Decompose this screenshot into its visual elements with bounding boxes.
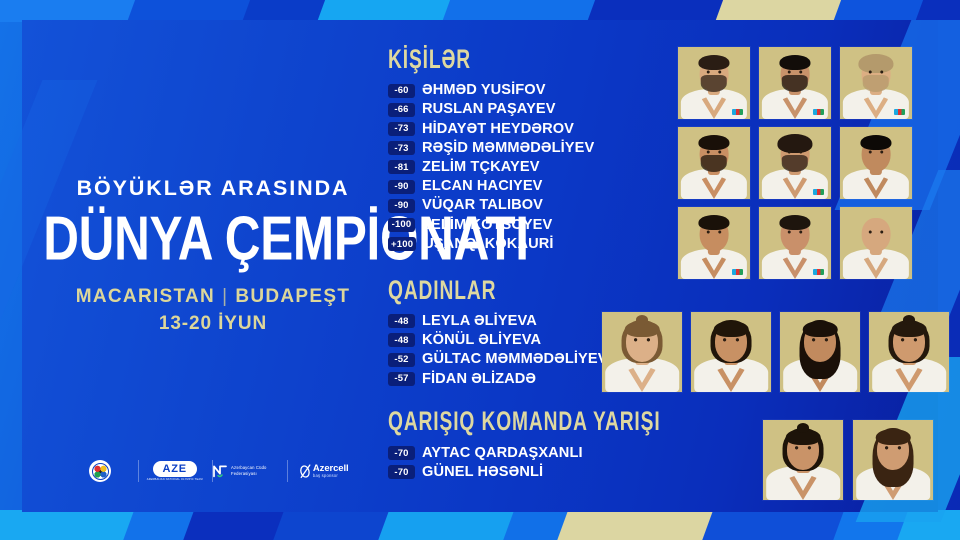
athlete-name: HİDAYƏT HEYDƏROV [422, 122, 574, 137]
weight-badge: -81 [388, 160, 415, 174]
athlete-row: -70GÜNEL HƏSƏNLİ [388, 463, 688, 482]
stripe-tan [554, 510, 721, 540]
athlete-portrait [691, 312, 771, 392]
weight-badge: -70 [388, 446, 415, 460]
federation-logo-label: Azərbaycan Cüdo Federasiyası [231, 465, 287, 476]
weight-badge: -90 [388, 199, 415, 213]
athlete-name: RUSLAN PAŞAYEV [422, 102, 556, 117]
athlete-name: ELCAN HACIYEV [422, 179, 543, 194]
photo-grid-men [678, 47, 912, 279]
section-heading-men: KİŞİLƏR [388, 47, 628, 74]
azercell-text: Azercell baş sponsor [313, 464, 349, 479]
logo-aze-team: AZE AZERBAIJAN NATIONAL OLYMPIC TEAM [138, 454, 213, 488]
photo-grid-mixed [763, 420, 933, 500]
athlete-portrait [780, 312, 860, 392]
athlete-name: RƏŞİD MƏMMƏDƏLİYEV [422, 141, 594, 156]
athlete-name: VÜQAR TALIBOV [422, 198, 543, 213]
stripe [0, 0, 147, 22]
weight-badge: -70 [388, 465, 415, 479]
weight-badge: -73 [388, 122, 415, 136]
athlete-portrait [853, 420, 933, 500]
olympic-seal-icon [89, 460, 111, 482]
top-stripe-band [0, 0, 960, 22]
stripe [0, 510, 143, 540]
eyes [678, 207, 750, 279]
event-title-block: BÖYÜKLƏR ARASINDA DÜNYA ÇEMPİONATI MACAR… [38, 178, 388, 335]
flag-patch [813, 189, 824, 195]
section-mixed-team: QARIŞIQ KOMANDA YARIŞI -70AYTAC QARDAŞXA… [388, 410, 688, 481]
azercell-logo-icon: Azercell baş sponsor [299, 464, 349, 479]
eyes [759, 207, 831, 279]
venue-separator: | [222, 286, 228, 307]
athlete-name: ƏHMƏD YUSİFOV [422, 83, 546, 98]
athlete-row: -66RUSLAN PAŞAYEV [388, 100, 688, 119]
weight-badge: -60 [388, 84, 415, 98]
athlete-portrait [759, 47, 831, 119]
athlete-portrait [759, 207, 831, 279]
azercell-name: Azercell [313, 464, 349, 474]
aze-logo-icon: AZE AZERBAIJAN NATIONAL OLYMPIC TEAM [147, 461, 203, 481]
athlete-portrait [678, 207, 750, 279]
flag-patch [732, 269, 743, 275]
title-kicker: BÖYÜKLƏR ARASINDA [38, 178, 388, 200]
page-title: DÜNYA ÇEMPİONATI [43, 206, 383, 271]
flag-patch [813, 269, 824, 275]
athlete-portrait [840, 207, 912, 279]
athlete-list-men: -60ƏHMƏD YUSİFOV -66RUSLAN PAŞAYEV -73Hİ… [388, 81, 688, 254]
weight-badge: +100 [388, 237, 416, 251]
bottom-stripe-band [0, 510, 960, 540]
athlete-portrait [840, 127, 912, 199]
weight-badge: -66 [388, 103, 415, 117]
azercell-mark-icon [299, 464, 312, 479]
weight-badge: -73 [388, 141, 415, 155]
athlete-row: -73RƏŞİD MƏMMƏDƏLİYEV [388, 139, 688, 158]
section-men: KİŞİLƏR -60ƏHMƏD YUSİFOV -66RUSLAN PAŞAY… [388, 48, 688, 254]
athlete-name: ZELİM TÇKAYEV [422, 160, 540, 175]
athlete-portrait [840, 47, 912, 119]
venue-country: MACARISTAN [76, 286, 215, 307]
logo-national-olympic-committee [63, 454, 138, 488]
weight-badge: -48 [388, 333, 415, 347]
athlete-name: UŞANQİ KOKAURİ [423, 237, 553, 252]
eyes [763, 420, 843, 500]
aze-sublabel: AZERBAIJAN NATIONAL OLYMPIC TEAM [147, 478, 203, 481]
athlete-row: -81ZELİM TÇKAYEV [388, 158, 688, 177]
section-heading-women: QADINLAR [388, 277, 628, 304]
athlete-row: -90ELCAN HACIYEV [388, 177, 688, 196]
flag-patch [894, 109, 905, 115]
stripe [583, 0, 733, 22]
venue-city: BUDAPEŞT [235, 286, 350, 307]
weight-badge: -90 [388, 180, 415, 194]
eyes [678, 127, 750, 199]
athlete-row: +100UŞANQİ KOKAURİ [388, 235, 688, 254]
flag-patch [732, 109, 743, 115]
athlete-row: -60ƏHMƏD YUSİFOV [388, 81, 688, 100]
eyes [691, 312, 771, 392]
stripe [123, 0, 258, 22]
stripe [375, 510, 522, 540]
athlete-row: -100ZELİM KOTSOYEV [388, 215, 688, 234]
weight-badge: -48 [388, 314, 415, 328]
athlete-row: -73HİDAYƏT HEYDƏROV [388, 119, 688, 138]
athlete-name: LEYLA ƏLİYEVA [422, 314, 537, 329]
weight-badge: -100 [388, 218, 415, 232]
federation-logo-icon: Azərbaycan Cüdo Federasiyası [212, 463, 287, 479]
athlete-portrait [759, 127, 831, 199]
eyes [840, 127, 912, 199]
federation-mark-icon [212, 463, 228, 479]
eyes [853, 420, 933, 500]
athlete-name: GÜLTAC MƏMMƏDƏLİYEVA [422, 352, 617, 367]
athlete-row: -70AYTAC QARDAŞXANLI [388, 443, 688, 462]
athlete-portrait [763, 420, 843, 500]
eyes [869, 312, 949, 392]
athlete-portrait [869, 312, 949, 392]
event-dates: 13-20 İYUN [38, 313, 388, 335]
eyes [602, 312, 682, 392]
athlete-name: KÖNÜL ƏLİYEVA [422, 333, 541, 348]
eyes [840, 47, 912, 119]
athlete-name: AYTAC QARDAŞXANLI [422, 446, 583, 461]
sponsor-logo-bar: AZE AZERBAIJAN NATIONAL OLYMPIC TEAM Azə… [63, 454, 361, 488]
weight-badge: -57 [388, 372, 415, 386]
flag-patch [813, 109, 824, 115]
athlete-name: GÜNEL HƏSƏNLİ [422, 465, 543, 480]
stripe [699, 510, 851, 540]
aze-label: AZE [153, 461, 197, 477]
logo-judo-federation: Azərbaycan Cüdo Federasiyası [212, 454, 287, 488]
athlete-name: ZELİM KOTSOYEV [422, 218, 552, 233]
athlete-roster: KİŞİLƏR -60ƏHMƏD YUSİFOV -66RUSLAN PAŞAY… [388, 48, 688, 482]
athlete-portrait [602, 312, 682, 392]
stripe [438, 0, 603, 22]
stripe [313, 0, 458, 22]
stripe [270, 510, 397, 540]
eyes [759, 127, 831, 199]
logo-azercell: Azercell baş sponsor [287, 454, 362, 488]
eyes [678, 47, 750, 119]
athlete-row: -90VÜQAR TALIBOV [388, 196, 688, 215]
athlete-portrait [678, 47, 750, 119]
eyes [780, 312, 860, 392]
eyes [759, 47, 831, 119]
stripe-tan [711, 0, 846, 22]
azercell-sublabel: baş sponsor [313, 474, 349, 478]
athlete-name: FİDAN ƏLİZADƏ [422, 372, 536, 387]
athlete-portrait [678, 127, 750, 199]
section-heading-mixed: QARIŞIQ KOMANDA YARIŞI [388, 409, 628, 436]
eyes [840, 207, 912, 279]
weight-badge: -52 [388, 353, 415, 367]
photo-grid-women [602, 312, 949, 392]
venue-line: MACARISTAN|BUDAPEŞT [38, 286, 388, 308]
athlete-list-mixed: -70AYTAC QARDAŞXANLI -70GÜNEL HƏSƏNLİ [388, 443, 688, 481]
